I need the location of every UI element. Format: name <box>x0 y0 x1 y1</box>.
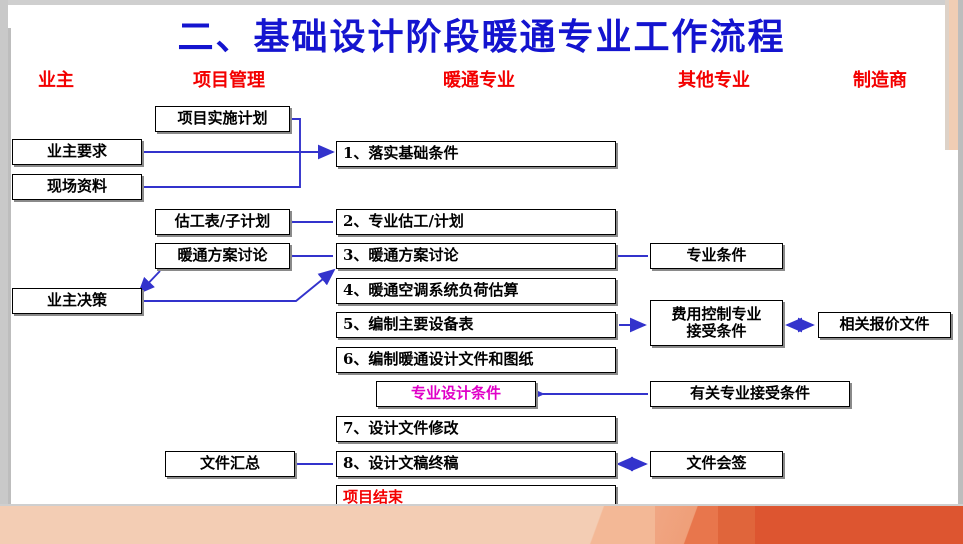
slide-left-border <box>0 0 8 544</box>
box-document-countersign[interactable]: 文件会签 <box>650 451 783 477</box>
box-step-1[interactable]: 1、落实基础条件 <box>336 141 616 167</box>
box-step-2[interactable]: 2、专业估工/计划 <box>336 209 616 235</box>
box-cost-control-acceptance[interactable]: 费用控制专业 接受条件 <box>650 300 783 346</box>
box-document-summary[interactable]: 文件汇总 <box>165 451 295 477</box>
box-cost-control-line2: 接受条件 <box>686 323 746 340</box>
page-title: 二、基础设计阶段暖通专业工作流程 <box>0 8 963 60</box>
slide-top-border <box>0 0 955 5</box>
column-header-other-prof: 其他专业 <box>678 66 750 92</box>
slide-canvas: 二、基础设计阶段暖通专业工作流程 业主 项目管理 暖通专业 其他专业 制造商 <box>0 0 963 544</box>
slide-left-inner-border <box>8 28 11 544</box>
bottom-bar-segment-4 <box>718 506 760 544</box>
box-related-professional-acceptance[interactable]: 有关专业接受条件 <box>650 381 850 407</box>
bottom-bar-segment-1 <box>0 506 625 544</box>
slide-right-border <box>958 0 963 544</box>
box-owner-decision[interactable]: 业主决策 <box>12 288 142 314</box>
box-cost-control-line1: 费用控制专业 <box>671 306 761 323</box>
bottom-bar-segment-5 <box>755 506 963 544</box>
column-header-hvac: 暖通专业 <box>443 66 515 92</box>
box-hvac-scheme-discussion-pm[interactable]: 暖通方案讨论 <box>155 243 290 269</box>
box-step-6[interactable]: 6、编制暖通设计文件和图纸 <box>336 347 616 373</box>
box-owner-request[interactable]: 业主要求 <box>12 139 142 165</box>
box-project-implementation-plan[interactable]: 项目实施计划 <box>155 106 290 132</box>
wire-owner-decision-to-step3 <box>144 270 334 301</box>
box-professional-design-conditions[interactable]: 专业设计条件 <box>376 381 536 407</box>
box-site-data[interactable]: 现场资料 <box>12 174 142 200</box>
box-step-5[interactable]: 5、编制主要设备表 <box>336 312 616 338</box>
box-step-8[interactable]: 8、设计文稿终稿 <box>336 451 616 477</box>
column-header-owner: 业主 <box>38 66 74 92</box>
box-estimate-subplan[interactable]: 估工表/子计划 <box>155 209 290 235</box>
column-header-project-mgmt: 项目管理 <box>193 66 265 92</box>
box-step-7[interactable]: 7、设计文件修改 <box>336 416 616 442</box>
wire-hvac-scheme-to-owner-decision <box>139 271 160 293</box>
bottom-bar-segment-2 <box>560 506 670 544</box>
box-step-4[interactable]: 4、暖通空调系统负荷估算 <box>336 278 616 304</box>
box-related-quotation-document[interactable]: 相关报价文件 <box>818 312 951 338</box>
bottom-decorative-bar <box>0 506 963 544</box>
column-header-manufacturer: 制造商 <box>853 66 907 92</box>
box-step-3[interactable]: 3、暖通方案讨论 <box>336 243 616 269</box>
box-professional-conditions[interactable]: 专业条件 <box>650 243 783 269</box>
